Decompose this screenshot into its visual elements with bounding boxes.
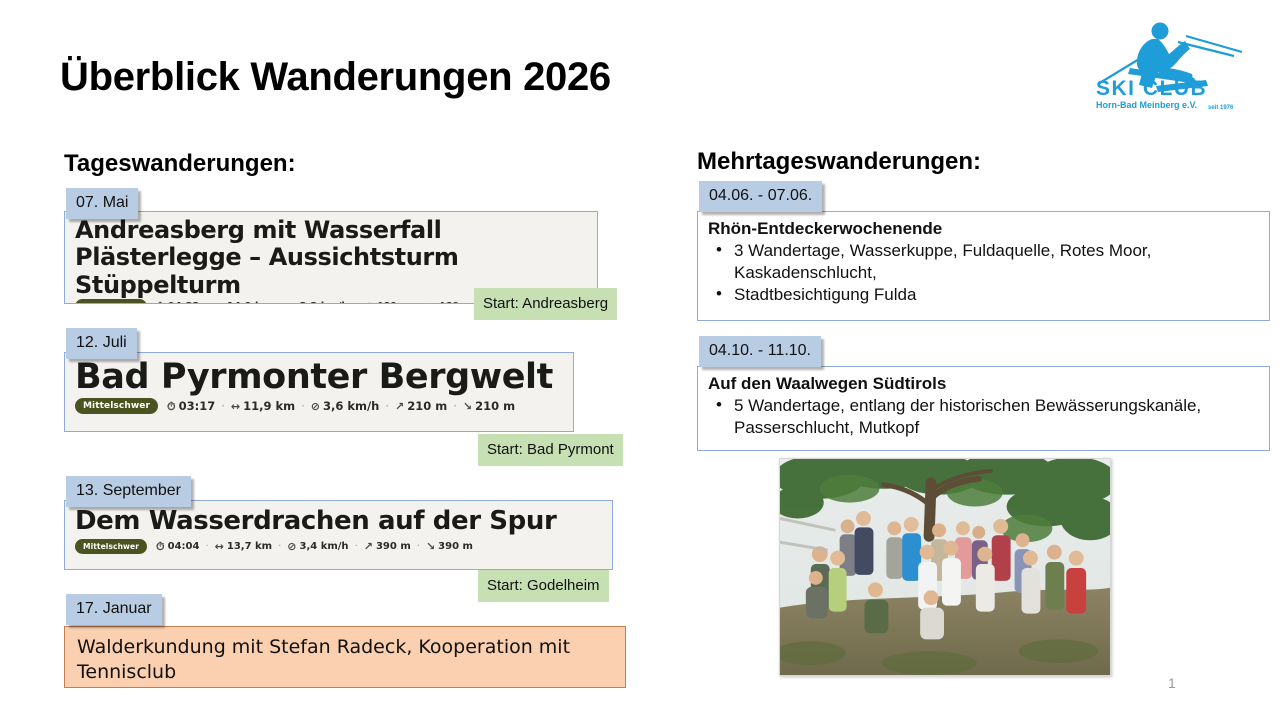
stat-separator: ·	[452, 399, 458, 413]
ascent-value-1: 460 m	[376, 301, 411, 304]
descent-value-2: 210 m	[475, 399, 515, 413]
date-badge-trip-2: 04.10. - 11.10.	[699, 336, 821, 367]
stat-speed-1: ⊘ 3,3 km/h	[287, 301, 348, 304]
speed-icon: ⊘	[311, 401, 320, 412]
stat-ascent-2: ↗ 210 m	[395, 399, 447, 413]
stat-separator: ·	[416, 301, 421, 304]
multiday-bullets-2: 5 Wandertage, entlang der historischen B…	[708, 395, 1259, 439]
stat-duration-2: ⏱ 03:17	[167, 399, 215, 413]
page-title: Überblick Wanderungen 2026	[60, 55, 611, 100]
descent-icon: ↘	[426, 541, 435, 552]
section-heading-multiday-hikes: Mehrtageswanderungen:	[697, 148, 981, 176]
ascent-value-3: 390 m	[376, 541, 411, 552]
slide-number: 1	[1168, 675, 1176, 691]
date-badge-hike-1: 07. Mai	[66, 188, 138, 219]
multiday-box-1[interactable]: Rhön-Entdeckerwochenende 3 Wandertage, W…	[697, 211, 1270, 321]
hike-stats-2: Mittelschwer ⏱ 03:17 · ↔ 11,9 km · ⊘ 3,6…	[65, 396, 573, 420]
duration-value-1: 04:32	[168, 301, 200, 304]
stat-distance-3: ↔ 13,7 km	[215, 541, 272, 552]
difficulty-badge-3: Mittelschwer	[75, 539, 147, 554]
stat-separator: ·	[384, 399, 390, 413]
difficulty-badge-1: Mittelschwer	[75, 299, 147, 304]
ascent-icon: ↗	[395, 401, 404, 412]
distance-value-3: 13,7 km	[227, 541, 272, 552]
multiday-box-2[interactable]: Auf den Waalwegen Südtirols 5 Wandertage…	[697, 366, 1270, 451]
stat-speed-2: ⊘ 3,6 km/h	[311, 399, 380, 413]
clock-icon: ⏱	[167, 401, 176, 412]
section-heading-day-hikes: Tageswanderungen:	[64, 150, 296, 178]
hike-title-1: Andreasberg mit Wasserfall Plästerlegge …	[65, 212, 597, 299]
multiday-title-1: Rhön-Entdeckerwochenende	[708, 218, 1259, 239]
logo-line2: Horn-Bad Meinberg e.V.	[1096, 100, 1197, 110]
descent-icon: ↘	[463, 401, 472, 412]
slide-canvas: Überblick Wanderungen 2026 SKI	[0, 0, 1280, 720]
start-label-hike-2: Start: Bad Pyrmont	[478, 434, 623, 466]
descent-value-1: 460 m	[438, 301, 473, 304]
descent-icon: ↘	[426, 301, 435, 304]
stat-separator: ·	[204, 541, 209, 552]
distance-icon: ↔	[231, 401, 240, 412]
stat-separator: ·	[277, 541, 282, 552]
ascent-icon: ↗	[364, 301, 373, 304]
difficulty-badge-2: Mittelschwer	[75, 398, 158, 414]
list-item: 5 Wandertage, entlang der historischen B…	[708, 395, 1259, 439]
stat-descent-1: ↘ 460 m	[426, 301, 473, 304]
distance-value-1: 14,9 km	[227, 301, 272, 304]
date-badge-note: 17. Januar	[66, 594, 162, 625]
hike-card-3[interactable]: Dem Wasserdrachen auf der Spur Mittelsch…	[64, 500, 613, 570]
descent-value-3: 390 m	[438, 541, 473, 552]
group-photo	[779, 458, 1111, 676]
distance-value-2: 11,9 km	[243, 399, 295, 413]
stat-descent-3: ↘ 390 m	[426, 541, 473, 552]
stat-duration-1: ⏱ 04:32	[156, 301, 199, 304]
stat-distance-1: ↔ 14,9 km	[215, 301, 272, 304]
hike-card-2[interactable]: Bad Pyrmonter Bergwelt Mittelschwer ⏱ 03…	[64, 352, 574, 432]
ski-club-logo: SKI CLUB Horn-Bad Meinberg e.V. seit 197…	[1082, 12, 1262, 124]
stat-separator: ·	[354, 541, 359, 552]
speed-value-3: 3,4 km/h	[300, 541, 349, 552]
distance-icon: ↔	[215, 301, 224, 304]
ascent-value-2: 210 m	[407, 399, 447, 413]
clock-icon: ⏱	[156, 301, 165, 304]
stat-speed-3: ⊘ 3,4 km/h	[287, 541, 348, 552]
stat-ascent-3: ↗ 390 m	[364, 541, 411, 552]
start-label-hike-1: Start: Andreasberg	[474, 288, 617, 320]
speed-value-2: 3,6 km/h	[323, 399, 379, 413]
stat-ascent-1: ↗ 460 m	[364, 301, 411, 304]
start-label-hike-3: Start: Godelheim	[478, 570, 609, 602]
distance-icon: ↔	[215, 541, 224, 552]
stat-separator: ·	[354, 301, 359, 304]
list-item: 3 Wandertage, Wasserkuppe, Fuldaquelle, …	[708, 240, 1259, 284]
stat-distance-2: ↔ 11,9 km	[231, 399, 295, 413]
speed-icon: ⊘	[287, 541, 296, 552]
clock-icon: ⏱	[156, 541, 165, 552]
duration-value-2: 03:17	[179, 399, 216, 413]
multiday-title-2: Auf den Waalwegen Südtirols	[708, 373, 1259, 394]
ascent-icon: ↗	[364, 541, 373, 552]
logo-line1: SKI CLUB	[1096, 77, 1207, 100]
note-box-walderkundung[interactable]: Walderkundung mit Stefan Radeck, Koopera…	[64, 626, 626, 688]
note-text: Walderkundung mit Stefan Radeck, Koopera…	[77, 636, 570, 683]
stat-separator: ·	[204, 301, 209, 304]
hike-title-2: Bad Pyrmonter Bergwelt	[65, 353, 573, 396]
stat-separator: ·	[416, 541, 421, 552]
multiday-bullets-1: 3 Wandertage, Wasserkuppe, Fuldaquelle, …	[708, 240, 1259, 306]
date-badge-trip-1: 04.06. - 07.06.	[699, 181, 822, 212]
stat-descent-2: ↘ 210 m	[463, 399, 515, 413]
date-badge-hike-2: 12. Juli	[66, 328, 137, 359]
stat-separator: ·	[300, 399, 306, 413]
hike-stats-3: Mittelschwer ⏱ 04:04 · ↔ 13,7 km · ⊘ 3,4…	[65, 536, 612, 560]
date-badge-hike-3: 13. September	[66, 476, 191, 507]
stat-separator: ·	[277, 301, 282, 304]
list-item: Stadtbesichtigung Fulda	[708, 284, 1259, 306]
stat-separator: ·	[220, 399, 226, 413]
stat-duration-3: ⏱ 04:04	[156, 541, 199, 552]
duration-value-3: 04:04	[168, 541, 200, 552]
speed-icon: ⊘	[287, 301, 296, 304]
logo-since: seit 1976	[1208, 105, 1234, 111]
speed-value-1: 3,3 km/h	[300, 301, 349, 304]
